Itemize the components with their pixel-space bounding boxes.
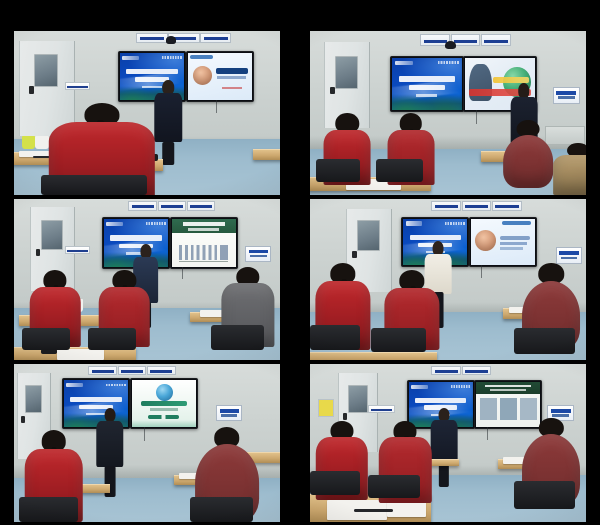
classroom-scene: [14, 31, 280, 195]
chair: [514, 328, 575, 354]
collage-panel-1[interactable]: [14, 31, 280, 195]
presenter-legs: [439, 464, 449, 488]
wall-sign: [368, 405, 395, 413]
ceiling-sign: [462, 366, 492, 376]
attendee-body: [503, 135, 553, 189]
chair: [368, 475, 420, 499]
presenter-body: [96, 421, 123, 467]
cup: [35, 136, 48, 149]
chair: [22, 328, 70, 351]
chair: [310, 325, 360, 351]
chair: [376, 159, 423, 182]
slide-content: [471, 219, 535, 265]
door-handle-icon[interactable]: [352, 251, 356, 259]
door-handle-icon[interactable]: [36, 249, 40, 257]
cable: [487, 427, 488, 440]
presenter: [429, 408, 459, 487]
door-handle-icon[interactable]: [343, 413, 347, 420]
ceiling-sign: [136, 33, 167, 43]
slide-teal: [132, 380, 197, 427]
ceiling-sign: [462, 201, 492, 211]
desk: [253, 149, 280, 160]
door-handle-icon[interactable]: [29, 86, 34, 95]
wall-sign: [65, 82, 91, 91]
display-right[interactable]: [170, 217, 239, 269]
ceiling-sign: [200, 33, 231, 43]
wall-sign: [65, 246, 91, 254]
ceiling-sign: [158, 201, 187, 211]
attendee-tan: [553, 143, 586, 195]
ceiling-sign: [431, 366, 461, 376]
camera-icon: [445, 41, 456, 49]
chair: [211, 325, 264, 351]
attendee-grey: [503, 120, 553, 189]
cable: [216, 100, 217, 113]
door-window-icon: [41, 220, 63, 250]
display-right[interactable]: [130, 378, 199, 429]
presenter-body: [155, 93, 182, 142]
wall-notice: [553, 87, 580, 104]
chair: [19, 497, 78, 522]
display-right[interactable]: [469, 217, 537, 267]
camera-icon: [166, 36, 177, 44]
attendee-body: [553, 155, 586, 195]
door-window-icon: [335, 56, 358, 89]
desk: [310, 352, 437, 360]
wall-notice: [245, 246, 271, 262]
ceiling-sign: [128, 201, 157, 211]
slide-content: [188, 53, 253, 100]
pen: [354, 509, 393, 511]
chair: [41, 175, 147, 195]
classroom-scene: [14, 364, 280, 522]
ceiling-sign: [431, 201, 461, 211]
collage-panel-5[interactable]: [14, 364, 280, 522]
classroom-scene: [14, 199, 280, 360]
chair: [190, 497, 254, 522]
chair: [371, 328, 426, 352]
door-handle-icon[interactable]: [21, 416, 25, 423]
photo-collage: Nursing teaching competition classroom p…: [0, 0, 600, 525]
chair: [310, 471, 360, 495]
cable: [481, 265, 482, 278]
cup: [22, 136, 35, 149]
wall-sign: [318, 399, 334, 417]
ceiling-sign: [118, 366, 147, 376]
collage-panel-4[interactable]: [310, 199, 586, 360]
chair: [514, 481, 575, 509]
ceiling-sign: [147, 366, 176, 376]
presenter: [152, 80, 184, 165]
ceiling-sign: [187, 201, 216, 211]
presenter-legs: [163, 142, 174, 166]
ceiling-sign: [492, 201, 522, 211]
classroom-scene: [310, 364, 586, 522]
door-window-icon: [34, 54, 58, 86]
presenter-body: [430, 420, 457, 464]
display-left[interactable]: [390, 56, 464, 112]
slide-chart: [172, 219, 237, 267]
door-handle-icon[interactable]: [330, 87, 334, 95]
collage-panel-3[interactable]: [14, 199, 280, 360]
ceiling-sign: [88, 366, 117, 376]
classroom-scene: [310, 31, 586, 195]
paper: [57, 349, 105, 360]
cable: [476, 110, 477, 125]
chair: [88, 328, 136, 351]
slide-title: [392, 58, 462, 110]
chair: [316, 159, 360, 182]
collage-panel-6[interactable]: [310, 364, 586, 522]
ceiling-sign: [481, 34, 511, 46]
cable: [182, 267, 183, 280]
wall-notice: [216, 405, 242, 421]
door-window-icon: [357, 220, 379, 250]
door-window-icon: [25, 385, 42, 413]
wall-notice: [556, 247, 583, 263]
classroom-scene: [310, 199, 586, 360]
collage-panel-2[interactable]: [310, 31, 586, 195]
cable: [144, 427, 145, 441]
display-right[interactable]: [186, 51, 255, 102]
door-window-icon: [348, 385, 368, 414]
